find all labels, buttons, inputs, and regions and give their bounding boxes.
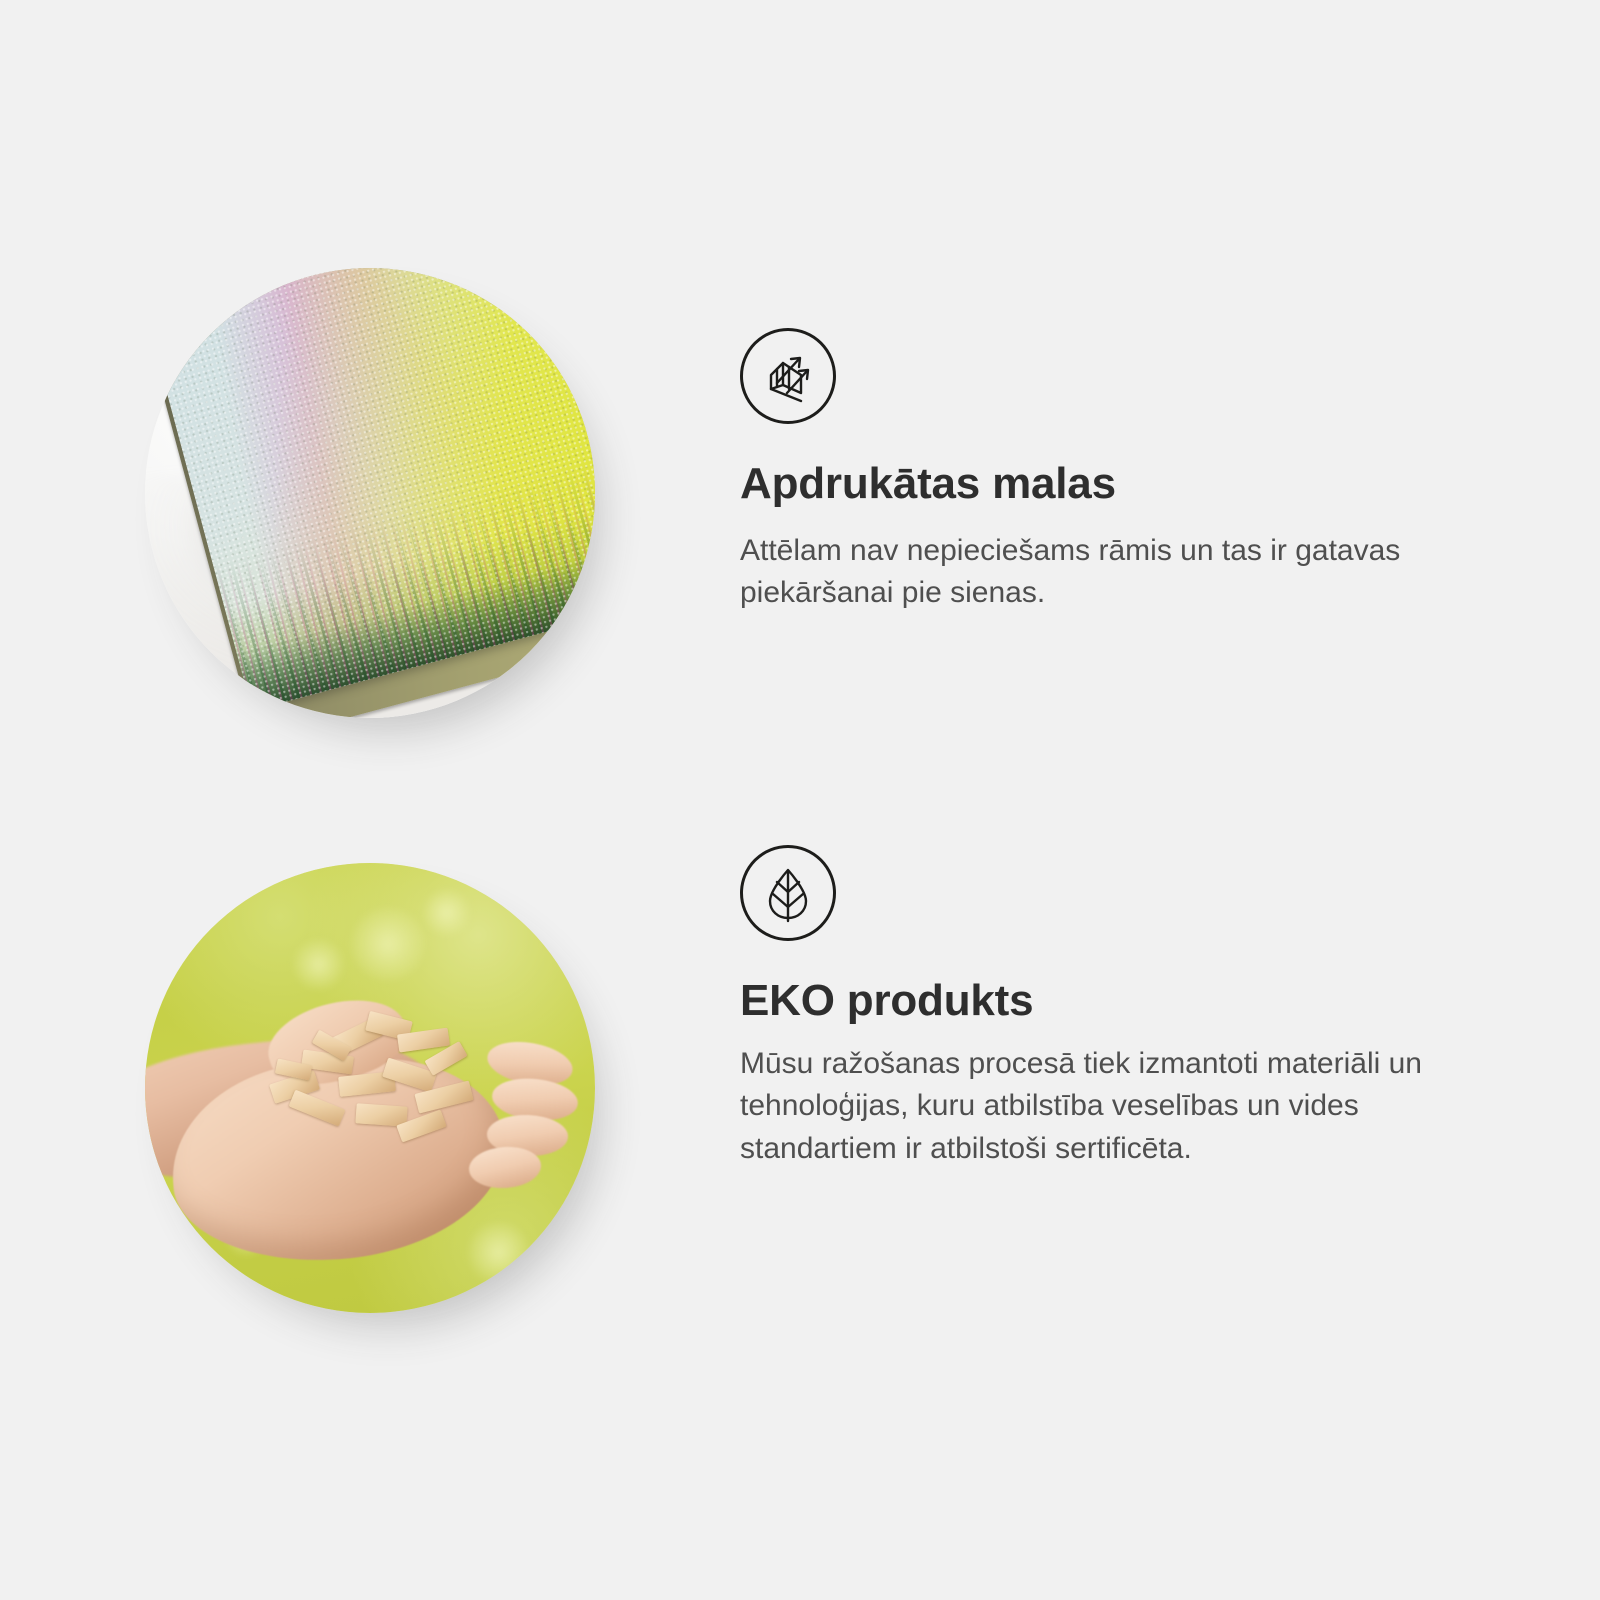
feature-title: EKO produkts (740, 977, 1480, 1025)
eco-scene (145, 863, 595, 1313)
canvas-edge-photo (145, 268, 595, 718)
wood-chips-pile (262, 1007, 496, 1160)
feature-page: Apdrukātas malas Attēlam nav nepieciešam… (0, 0, 1600, 1600)
eco-wood-chips-photo (145, 863, 595, 1313)
feature-eco-product: EKO produkts Mūsu ražošanas procesā tiek… (0, 845, 1600, 1313)
bokeh-spot (294, 940, 344, 990)
feature-description: Mūsu ražošanas procesā tiek izmantoti ma… (740, 1043, 1440, 1171)
bokeh-spot (469, 1223, 528, 1282)
feature-title: Apdrukātas malas (740, 460, 1480, 508)
feature-eco-product-media (0, 845, 740, 1313)
wood-chip (289, 1089, 346, 1126)
feature-printed-edges-media (0, 250, 740, 718)
bokeh-spot (352, 908, 424, 980)
feature-eco-product-text: EKO produkts Mūsu ražošanas procesā tiek… (740, 845, 1600, 1170)
feature-printed-edges: Apdrukātas malas Attēlam nav nepieciešam… (0, 250, 1600, 718)
printed-edge-arrows-icon (740, 328, 836, 424)
feature-description: Attēlam nav nepieciešams rāmis un tas ir… (740, 530, 1440, 615)
bokeh-spot (424, 890, 469, 935)
canvas-scene (145, 268, 595, 718)
leaf-icon (740, 845, 836, 941)
feature-printed-edges-text: Apdrukātas malas Attēlam nav nepieciešam… (740, 250, 1600, 615)
